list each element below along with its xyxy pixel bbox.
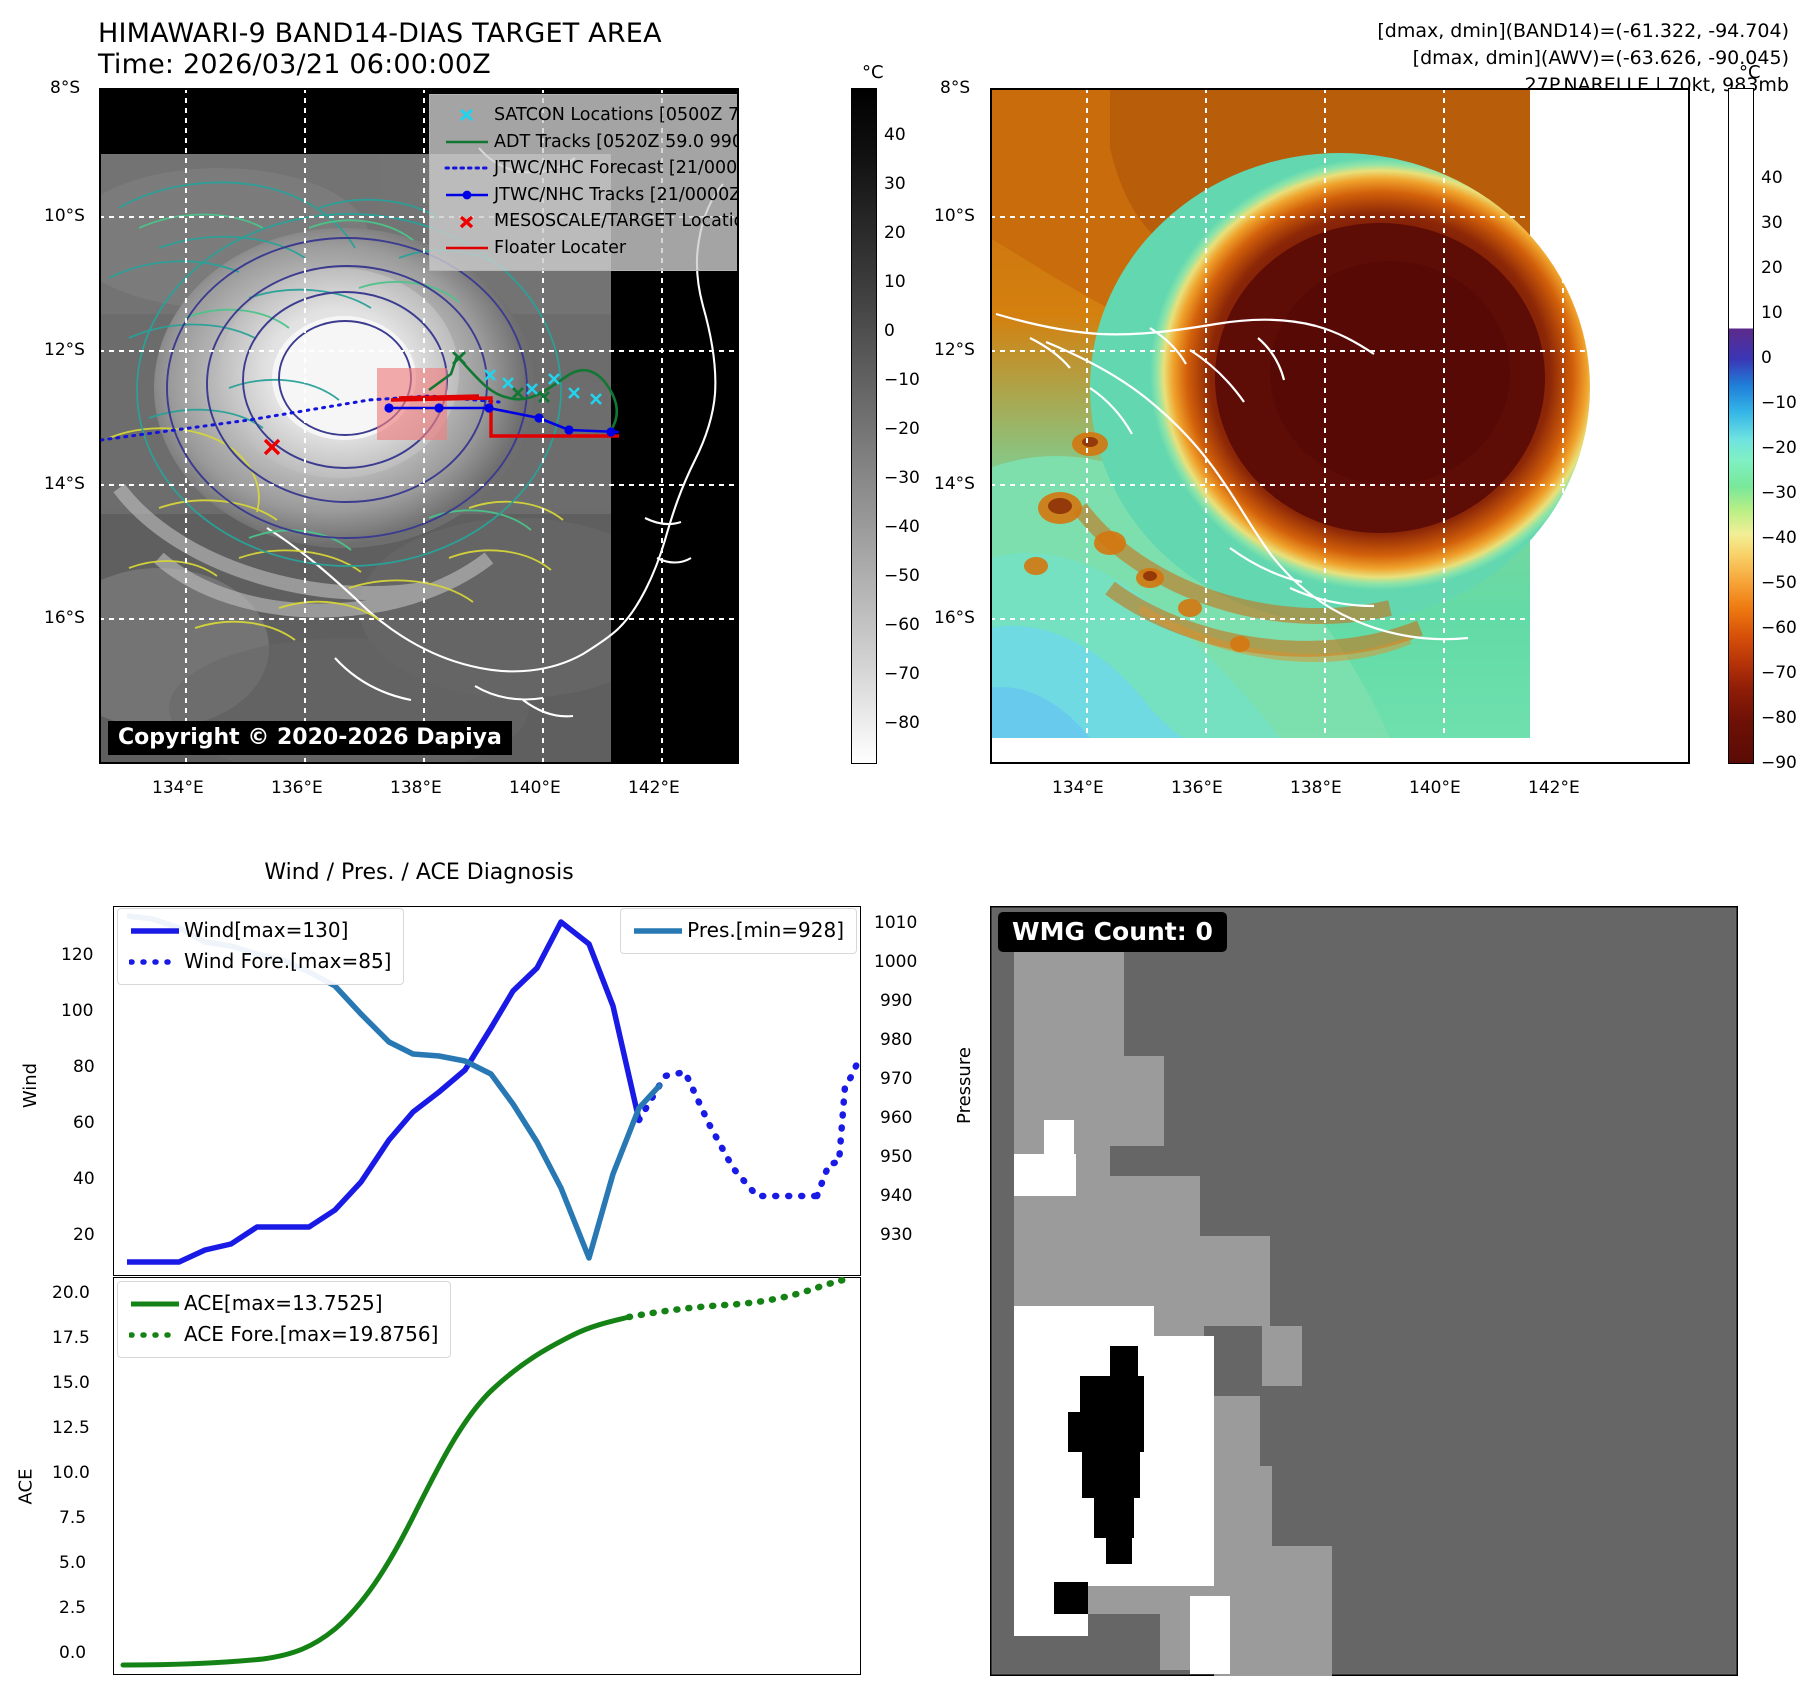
ir-gridline-14S bbox=[99, 484, 739, 486]
ir-colorbar bbox=[851, 88, 877, 764]
legend-item-jtwc-tracks[interactable]: JTWC/NHC Tracks [21/0000Z] bbox=[440, 182, 739, 209]
wind-legend[interactable]: Wind[max=130] Wind Fore.[max=85] bbox=[117, 908, 404, 985]
legend-label-ace: ACE[max=13.7525] bbox=[184, 1288, 383, 1319]
awv-gridline-12S bbox=[990, 350, 1690, 352]
dotted-line-icon bbox=[126, 952, 184, 972]
awv-xtick-138E: 138°E bbox=[1290, 778, 1342, 798]
legend-item-ace[interactable]: ACE[max=13.7525] bbox=[126, 1288, 438, 1319]
ir-cb-tick-m40: −40 bbox=[884, 517, 920, 537]
legend-label-adt: ADT Tracks [0520Z 59.0 990.8] bbox=[494, 129, 739, 156]
awv-gridline-16S bbox=[990, 618, 1690, 620]
ir-ytick-16S: 16°S bbox=[44, 608, 85, 628]
awv-gridline-136E bbox=[1205, 88, 1207, 764]
solid-line-icon bbox=[126, 1294, 184, 1314]
ir-gridline-16S bbox=[99, 618, 739, 620]
wind-ytick-80: 80 bbox=[73, 1057, 95, 1077]
legend-item-pressure[interactable]: Pres.[min=928] bbox=[629, 915, 844, 946]
awv-cb-tick-20: 20 bbox=[1761, 258, 1783, 278]
header-info-band14: [dmax, dmin](BAND14)=(-61.322, -94.704) bbox=[1377, 18, 1789, 45]
ir-xtick-138E: 138°E bbox=[390, 778, 442, 798]
awv-xtick-142E: 142°E bbox=[1528, 778, 1580, 798]
pres-ytick-940: 940 bbox=[880, 1186, 912, 1206]
ir-satellite-image[interactable]: SATCON Locations [0500Z 70 976] ADT Trac… bbox=[99, 88, 739, 764]
ir-cb-tick-m70: −70 bbox=[884, 664, 920, 684]
awv-gridline-138E bbox=[1324, 88, 1326, 764]
awv-cb-tick-0: 0 bbox=[1761, 348, 1772, 368]
pressure-axis-label: Pressure bbox=[954, 1047, 975, 1124]
wind-ytick-120: 120 bbox=[61, 945, 93, 965]
ir-xtick-134E: 134°E bbox=[152, 778, 204, 798]
dotted-line-icon bbox=[440, 159, 494, 177]
copyright-badge: Copyright © 2020-2026 Dapiya bbox=[108, 721, 512, 755]
legend-label-mesoscale: MESOSCALE/TARGET Location bbox=[494, 208, 739, 235]
awv-ytick-14S: 14°S bbox=[934, 474, 975, 494]
ir-cb-tick-40: 40 bbox=[884, 125, 906, 145]
diagnosis-panel-title: Wind / Pres. / ACE Diagnosis bbox=[99, 860, 739, 885]
solid-line-icon bbox=[629, 921, 687, 941]
legend-item-ace-forecast[interactable]: ACE Fore.[max=19.8756] bbox=[126, 1319, 438, 1350]
wind-ytick-100: 100 bbox=[61, 1001, 93, 1021]
ir-cb-tick-0: 0 bbox=[884, 321, 895, 341]
ace-ytick-2.5: 2.5 bbox=[59, 1598, 86, 1618]
header-info-awv: [dmax, dmin](AWV)=(-63.626, -90.045) bbox=[1377, 45, 1789, 72]
cross-marker-icon bbox=[440, 106, 494, 124]
awv-colorbar bbox=[1728, 88, 1754, 764]
awv-cb-tick-m40: −40 bbox=[1761, 528, 1797, 548]
awv-ytick-16S: 16°S bbox=[934, 608, 975, 628]
ir-gridline-134E bbox=[185, 88, 187, 764]
awv-xtick-134E: 134°E bbox=[1052, 778, 1104, 798]
awv-cb-tick-m80: −80 bbox=[1761, 708, 1797, 728]
page-title-line2: Time: 2026/03/21 06:00:00Z bbox=[98, 49, 662, 80]
wmg-panel[interactable]: WMG Count: 0 bbox=[990, 906, 1738, 1676]
pres-ytick-1000: 1000 bbox=[874, 952, 917, 972]
awv-gridline-14S bbox=[990, 484, 1690, 486]
pres-ytick-950: 950 bbox=[880, 1147, 912, 1167]
ir-cb-tick-20: 20 bbox=[884, 223, 906, 243]
ace-chart[interactable]: ACE[max=13.7525] ACE Fore.[max=19.8756] bbox=[113, 1277, 861, 1675]
awv-ytick-12S: 12°S bbox=[934, 340, 975, 360]
awv-colorbar-unit: °C bbox=[1739, 62, 1761, 83]
legend-item-jtwc-forecast[interactable]: JTWC/NHC Forecast [21/0000Z] bbox=[440, 155, 739, 182]
ir-cb-tick-30: 30 bbox=[884, 174, 906, 194]
awv-cb-tick-m30: −30 bbox=[1761, 483, 1797, 503]
ir-legend[interactable]: SATCON Locations [0500Z 70 976] ADT Trac… bbox=[429, 94, 739, 271]
legend-label-jtwc-forecast: JTWC/NHC Forecast [21/0000Z] bbox=[494, 155, 739, 182]
awv-cb-tick-30: 30 bbox=[1761, 213, 1783, 233]
awv-xtick-136E: 136°E bbox=[1171, 778, 1223, 798]
legend-item-wind[interactable]: Wind[max=130] bbox=[126, 915, 391, 946]
pres-ytick-980: 980 bbox=[880, 1030, 912, 1050]
awv-ytick-8S: 8°S bbox=[940, 78, 970, 98]
ir-gridline-138E bbox=[423, 88, 425, 764]
wind-ytick-60: 60 bbox=[73, 1113, 95, 1133]
legend-label-wind: Wind[max=130] bbox=[184, 915, 348, 946]
awv-gridline-134E bbox=[1086, 88, 1088, 764]
wmg-canvas bbox=[990, 906, 1738, 1676]
ir-cb-tick-m80: −80 bbox=[884, 713, 920, 733]
legend-label-ace-forecast: ACE Fore.[max=19.8756] bbox=[184, 1319, 438, 1350]
solid-line-icon bbox=[126, 921, 184, 941]
pres-ytick-960: 960 bbox=[880, 1108, 912, 1128]
awv-xtick-140E: 140°E bbox=[1409, 778, 1461, 798]
awv-image-canvas bbox=[990, 88, 1690, 764]
ace-axis-label: ACE bbox=[15, 1469, 36, 1505]
pres-ytick-930: 930 bbox=[880, 1225, 912, 1245]
legend-label-floater: Floater Locater bbox=[494, 235, 626, 262]
line-with-dot-icon bbox=[440, 186, 494, 204]
solid-line-icon bbox=[440, 239, 494, 257]
awv-gridline-142E bbox=[1562, 88, 1564, 764]
ace-legend[interactable]: ACE[max=13.7525] ACE Fore.[max=19.8756] bbox=[117, 1281, 451, 1358]
awv-satellite-image[interactable] bbox=[990, 88, 1690, 764]
ir-cb-tick-m10: −10 bbox=[884, 370, 920, 390]
ir-cb-tick-m50: −50 bbox=[884, 566, 920, 586]
awv-ytick-10S: 10°S bbox=[934, 206, 975, 226]
page-title: HIMAWARI-9 BAND14-DIAS TARGET AREA Time:… bbox=[98, 18, 662, 80]
awv-cb-tick-m10: −10 bbox=[1761, 393, 1797, 413]
awv-cb-tick-40: 40 bbox=[1761, 168, 1783, 188]
x-marker-icon bbox=[440, 213, 494, 231]
ir-xtick-140E: 140°E bbox=[509, 778, 561, 798]
legend-label-jtwc-tracks: JTWC/NHC Tracks [21/0000Z] bbox=[494, 182, 739, 209]
ir-cb-tick-m60: −60 bbox=[884, 615, 920, 635]
ir-gridline-12S bbox=[99, 350, 739, 352]
ace-ytick-12.5: 12.5 bbox=[52, 1418, 90, 1438]
legend-item-wind-forecast[interactable]: Wind Fore.[max=85] bbox=[126, 946, 391, 977]
legend-label-satcon: SATCON Locations [0500Z 70 976] bbox=[494, 102, 739, 129]
awv-cb-tick-m20: −20 bbox=[1761, 438, 1797, 458]
ace-ytick-15: 15.0 bbox=[52, 1373, 90, 1393]
ir-colorbar-unit: °C bbox=[862, 62, 884, 83]
wind-axis-label: Wind bbox=[20, 1063, 41, 1108]
ir-xtick-136E: 136°E bbox=[271, 778, 323, 798]
ir-ytick-8S: 8°S bbox=[50, 78, 80, 98]
ir-ytick-14S: 14°S bbox=[44, 474, 85, 494]
pres-ytick-970: 970 bbox=[880, 1069, 912, 1089]
solid-line-icon bbox=[440, 133, 494, 151]
legend-item-satcon[interactable]: SATCON Locations [0500Z 70 976] bbox=[440, 102, 739, 129]
ace-ytick-7.5: 7.5 bbox=[59, 1508, 86, 1528]
page-title-line1: HIMAWARI-9 BAND14-DIAS TARGET AREA bbox=[98, 18, 662, 49]
wmg-count-badge: WMG Count: 0 bbox=[998, 912, 1227, 952]
wind-pressure-chart[interactable]: Wind[max=130] Wind Fore.[max=85] Pres.[m… bbox=[113, 906, 861, 1276]
legend-item-adt[interactable]: ADT Tracks [0520Z 59.0 990.8] bbox=[440, 129, 739, 156]
wind-ytick-40: 40 bbox=[73, 1169, 95, 1189]
legend-label-pressure: Pres.[min=928] bbox=[687, 915, 844, 946]
pres-ytick-990: 990 bbox=[880, 991, 912, 1011]
ace-ytick-10: 10.0 bbox=[52, 1463, 90, 1483]
ir-gridline-136E bbox=[304, 88, 306, 764]
awv-gridline-10S bbox=[990, 216, 1690, 218]
ace-ytick-17.5: 17.5 bbox=[52, 1328, 90, 1348]
ir-cb-tick-m20: −20 bbox=[884, 419, 920, 439]
legend-item-mesoscale[interactable]: MESOSCALE/TARGET Location bbox=[440, 208, 739, 235]
header-info: [dmax, dmin](BAND14)=(-61.322, -94.704) … bbox=[1377, 18, 1789, 99]
dotted-line-icon bbox=[126, 1325, 184, 1345]
ir-cb-tick-m30: −30 bbox=[884, 468, 920, 488]
awv-gridline-140E bbox=[1443, 88, 1445, 764]
legend-item-floater[interactable]: Floater Locater bbox=[440, 235, 739, 262]
wind-ytick-20: 20 bbox=[73, 1225, 95, 1245]
awv-cb-tick-m60: −60 bbox=[1761, 618, 1797, 638]
legend-label-wind-forecast: Wind Fore.[max=85] bbox=[184, 946, 391, 977]
ace-ytick-20: 20.0 bbox=[52, 1283, 90, 1303]
awv-cb-tick-m50: −50 bbox=[1761, 573, 1797, 593]
ir-ytick-12S: 12°S bbox=[44, 340, 85, 360]
ir-cb-tick-10: 10 bbox=[884, 272, 906, 292]
ace-ytick-5: 5.0 bbox=[59, 1553, 86, 1573]
pressure-legend[interactable]: Pres.[min=928] bbox=[620, 908, 857, 954]
awv-cb-tick-10: 10 bbox=[1761, 303, 1783, 323]
ace-ytick-0: 0.0 bbox=[59, 1643, 86, 1663]
ir-ytick-10S: 10°S bbox=[44, 206, 85, 226]
pres-ytick-1010: 1010 bbox=[874, 913, 917, 933]
ir-xtick-142E: 142°E bbox=[628, 778, 680, 798]
awv-cb-tick-m90: −90 bbox=[1761, 753, 1797, 773]
awv-cb-tick-m70: −70 bbox=[1761, 663, 1797, 683]
